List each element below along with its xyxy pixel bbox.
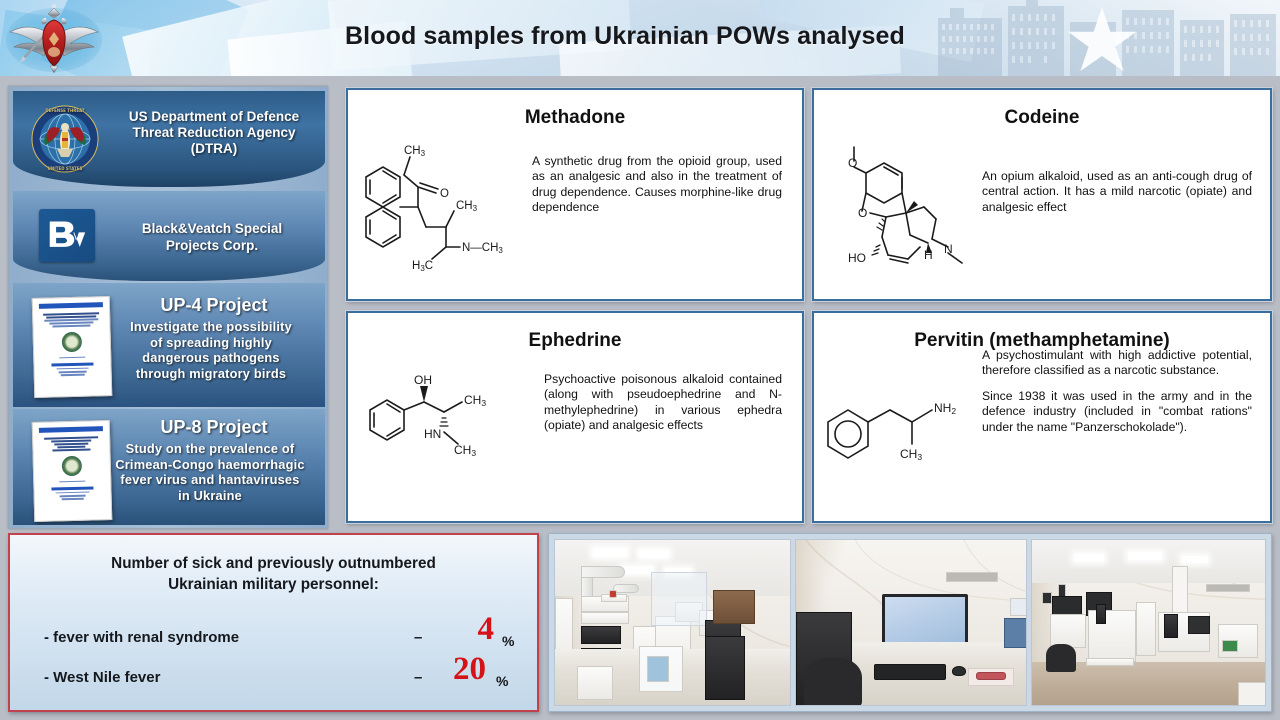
statistics-panel-title: Number of sick and previously outnumbere…: [10, 553, 537, 595]
methadone-structure-diagram: CH3 O CH3 N—CH3 H3C: [356, 135, 536, 285]
svg-text:H3C: H3C: [412, 260, 433, 273]
statistics-row-label: - West Nile fever: [44, 669, 160, 686]
drug-card-codeine-description: An opium alkaloid, used as an anti-cough…: [982, 169, 1252, 215]
drug-card-codeine: Codeine: [812, 88, 1272, 301]
codeine-structure-diagram: O O N H HO: [832, 135, 992, 285]
statistics-row-value: 20: [414, 651, 486, 688]
sidebar-item-up4-project[interactable]: UP-4 Project Investigate the possibility…: [13, 283, 325, 407]
svg-text:H: H: [924, 248, 933, 262]
statistics-row: - West Nile fever – 20 %: [10, 660, 537, 696]
drug-card-pervitin-paragraph-1: A psychostimulant with high addictive po…: [982, 348, 1252, 379]
laboratory-photo-strip: [548, 533, 1272, 712]
sidebar-item-dtra[interactable]: DEFENSE THREAT UNITED STATES US Departme…: [13, 91, 325, 187]
svg-text:CH3: CH3: [900, 447, 922, 462]
svg-text:OH: OH: [414, 373, 432, 387]
sidebar-item-dtra-label: US Department of Defence Threat Reductio…: [109, 109, 319, 157]
drug-card-methadone-title: Methadone: [348, 107, 802, 129]
svg-text:CH3: CH3: [404, 145, 426, 158]
svg-text:O: O: [440, 188, 449, 200]
statistics-panel: Number of sick and previously outnumbere…: [8, 533, 539, 712]
bv-logo-icon: [39, 209, 95, 262]
svg-text:CH3: CH3: [454, 443, 476, 458]
svg-text:HN: HN: [424, 427, 441, 441]
svg-text:N: N: [944, 242, 953, 256]
svg-text:N—CH3: N—CH3: [462, 242, 503, 255]
statistics-row-unit: %: [502, 633, 514, 649]
sidebar-item-black-veatch-label: Black&Veatch Special Projects Corp.: [105, 220, 319, 254]
drug-card-pervitin: Pervitin (methamphetamine) NH2 CH3 A psy…: [812, 311, 1272, 523]
drug-card-methadone: Methadone: [346, 88, 804, 301]
svg-text:CH3: CH3: [456, 200, 478, 213]
drug-card-pervitin-paragraph-2: Since 1938 it was used in the army and i…: [982, 389, 1252, 435]
sidebar-item-black-veatch[interactable]: Black&Veatch Special Projects Corp.: [13, 191, 325, 281]
drug-card-ephedrine-title: Ephedrine: [348, 330, 802, 352]
drug-card-ephedrine-description: Psychoactive poisonous alkaloid containe…: [544, 372, 782, 434]
methamphetamine-structure-diagram: NH2 CH3: [820, 378, 990, 508]
ephedrine-structure-diagram: OH CH3 HN CH3: [362, 362, 552, 497]
drug-card-methadone-description: A synthetic drug from the opioid group, …: [532, 154, 782, 216]
sidebar-item-up4-title: UP-4 Project: [109, 295, 319, 316]
photo-lab-instrument-room: [1031, 539, 1266, 706]
svg-text:HO: HO: [848, 251, 866, 265]
photo-lab-hplc-bench: [554, 539, 791, 706]
svg-text:CH3: CH3: [464, 393, 486, 408]
sidebar-item-up4-description: Investigate the possibility of spreading…: [103, 319, 319, 381]
page-header: Blood samples from Ukrainian POWs analys…: [0, 0, 1280, 76]
sidebar-item-up8-description: Study on the prevalence of Crimean-Congo…: [99, 441, 321, 503]
dtra-seal-icon: DEFENSE THREAT UNITED STATES: [31, 105, 99, 173]
statistics-row-value: 4: [422, 611, 494, 648]
document-thumbnail-icon: [32, 296, 113, 398]
statistics-row-label: - fever with renal syndrome: [44, 629, 239, 646]
sidebar-item-up8-title: UP-8 Project: [109, 417, 319, 438]
svg-text:DEFENSE THREAT: DEFENSE THREAT: [45, 108, 85, 113]
page-title: Blood samples from Ukrainian POWs analys…: [0, 22, 1280, 51]
drug-card-pervitin-description: A psychostimulant with high addictive po…: [982, 348, 1252, 445]
sidebar: DEFENSE THREAT UNITED STATES US Departme…: [8, 86, 328, 529]
svg-text:O: O: [858, 206, 867, 220]
photo-lab-workstation: [795, 539, 1026, 706]
statistics-row-unit: %: [496, 673, 508, 689]
drug-card-codeine-title: Codeine: [814, 107, 1270, 129]
drug-card-ephedrine: Ephedrine OH: [346, 311, 804, 523]
svg-text:NH2: NH2: [934, 401, 956, 416]
sidebar-item-up8-project[interactable]: UP-8 Project Study on the prevalence of …: [13, 409, 325, 525]
svg-text:UNITED STATES: UNITED STATES: [48, 166, 83, 171]
svg-text:O: O: [848, 156, 857, 170]
